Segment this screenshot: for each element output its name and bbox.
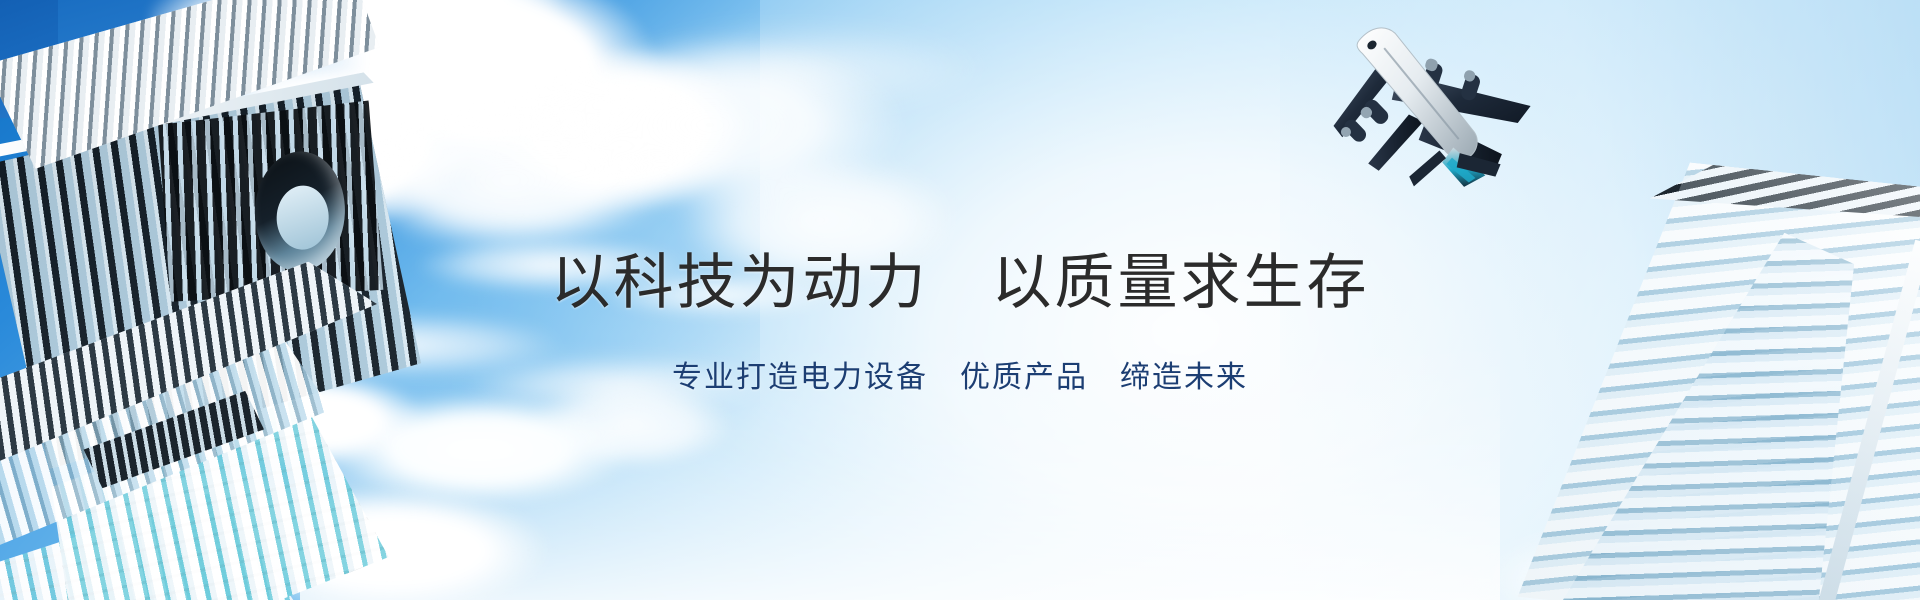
right-tower-shading — [1518, 149, 1920, 600]
airplane-icon — [1324, 0, 1566, 201]
banner-headline: 以科技为动力 以质量求生存 — [551, 250, 1370, 317]
airplane-tailplane-left — [1408, 150, 1448, 187]
airplane-svg — [1324, 0, 1566, 201]
hero-banner: 以科技为动力 以质量求生存 专业打造电力设备 优质产品 缔造未来 — [0, 0, 1920, 600]
airplane-stabilizer-left — [1365, 114, 1427, 172]
banner-subheadline: 专业打造电力设备 优质产品 缔造未来 — [672, 352, 1248, 396]
tower-icon-right — [1518, 149, 1920, 600]
